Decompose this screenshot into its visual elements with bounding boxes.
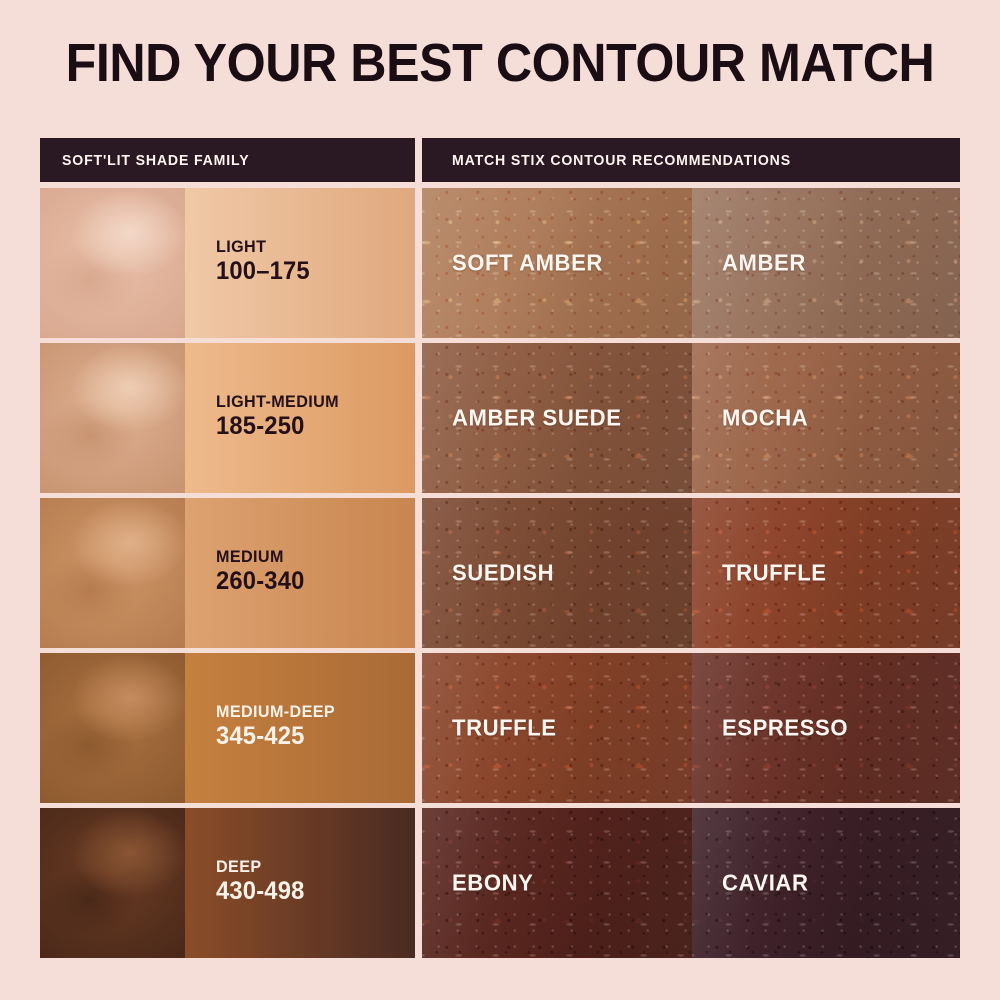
header-label-recommendations: MATCH STIX CONTOUR RECOMMENDATIONS bbox=[452, 152, 791, 169]
model-photo-image bbox=[40, 653, 185, 803]
product-swatch[interactable]: MOCHA bbox=[692, 343, 960, 493]
model-photo bbox=[40, 808, 185, 958]
shade-family-cell: MEDIUM 260-340 bbox=[40, 498, 415, 648]
shade-family-name: MEDIUM bbox=[216, 548, 304, 566]
product-swatch[interactable]: EBONY bbox=[422, 808, 692, 958]
contour-match-chart: FIND YOUR BEST CONTOUR MATCH SOFT'LIT SH… bbox=[0, 0, 1000, 1000]
shade-family-range: 345-425 bbox=[216, 723, 335, 750]
table-row: DEEP 430-498 EBONY CAVIAR bbox=[40, 808, 960, 958]
model-photo bbox=[40, 498, 185, 648]
table-row: LIGHT 100–175 SOFT AMBER AMBER bbox=[40, 188, 960, 338]
shade-family-cell: LIGHT-MEDIUM 185-250 bbox=[40, 343, 415, 493]
product-swatch-label: AMBER bbox=[722, 250, 806, 277]
model-photo bbox=[40, 188, 185, 338]
shade-family-range: 430-498 bbox=[216, 878, 304, 905]
product-swatch[interactable]: TRUFFLE bbox=[422, 653, 692, 803]
shade-family-swatch: LIGHT 100–175 bbox=[185, 188, 415, 338]
shade-family-name: MEDIUM-DEEP bbox=[216, 703, 335, 721]
product-swatch-label: SOFT AMBER bbox=[452, 250, 603, 277]
shade-family-range: 260-340 bbox=[216, 568, 304, 595]
shade-family-cell: LIGHT 100–175 bbox=[40, 188, 415, 338]
shade-match-table: SOFT'LIT SHADE FAMILY MATCH STIX CONTOUR… bbox=[40, 138, 960, 950]
model-photo bbox=[40, 653, 185, 803]
product-swatch-label: TRUFFLE bbox=[452, 715, 557, 742]
shade-family-name: DEEP bbox=[216, 858, 304, 876]
model-photo-image bbox=[40, 498, 185, 648]
product-swatch[interactable]: ESPRESSO bbox=[692, 653, 960, 803]
shade-family-label: DEEP 430-498 bbox=[216, 858, 309, 905]
product-swatch[interactable]: SOFT AMBER bbox=[422, 188, 692, 338]
recommendations-cell: AMBER SUEDE MOCHA bbox=[422, 343, 960, 493]
shade-family-swatch: MEDIUM 260-340 bbox=[185, 498, 415, 648]
product-swatch[interactable]: SUEDISH bbox=[422, 498, 692, 648]
shade-family-cell: MEDIUM-DEEP 345-425 bbox=[40, 653, 415, 803]
header-cell-recommendations: MATCH STIX CONTOUR RECOMMENDATIONS bbox=[422, 138, 960, 182]
table-header-row: SOFT'LIT SHADE FAMILY MATCH STIX CONTOUR… bbox=[40, 138, 960, 182]
product-swatch-label: EBONY bbox=[452, 870, 533, 897]
shade-family-swatch: MEDIUM-DEEP 345-425 bbox=[185, 653, 415, 803]
product-swatch-label: CAVIAR bbox=[722, 870, 808, 897]
shade-family-range: 185-250 bbox=[216, 413, 339, 440]
header-label-shade-family: SOFT'LIT SHADE FAMILY bbox=[62, 152, 249, 169]
shade-family-cell: DEEP 430-498 bbox=[40, 808, 415, 958]
recommendations-cell: TRUFFLE ESPRESSO bbox=[422, 653, 960, 803]
shade-family-range: 100–175 bbox=[216, 258, 310, 285]
recommendations-cell: SUEDISH TRUFFLE bbox=[422, 498, 960, 648]
table-row: MEDIUM 260-340 SUEDISH TRUFFLE bbox=[40, 498, 960, 648]
model-photo-image bbox=[40, 188, 185, 338]
model-photo-image bbox=[40, 343, 185, 493]
recommendations-cell: SOFT AMBER AMBER bbox=[422, 188, 960, 338]
shade-family-label: LIGHT-MEDIUM 185-250 bbox=[216, 393, 345, 440]
shade-family-name: LIGHT-MEDIUM bbox=[216, 393, 339, 411]
recommendations-cell: EBONY CAVIAR bbox=[422, 808, 960, 958]
table-row: LIGHT-MEDIUM 185-250 AMBER SUEDE MOCHA bbox=[40, 343, 960, 493]
product-swatch-label: AMBER SUEDE bbox=[452, 405, 622, 432]
shade-family-swatch: DEEP 430-498 bbox=[185, 808, 415, 958]
shade-family-swatch: LIGHT-MEDIUM 185-250 bbox=[185, 343, 415, 493]
product-swatch[interactable]: TRUFFLE bbox=[692, 498, 960, 648]
product-swatch[interactable]: AMBER bbox=[692, 188, 960, 338]
product-swatch-label: ESPRESSO bbox=[722, 715, 848, 742]
shade-family-label: LIGHT 100–175 bbox=[216, 238, 315, 285]
product-swatch-label: TRUFFLE bbox=[722, 560, 827, 587]
header-cell-shade-family: SOFT'LIT SHADE FAMILY bbox=[40, 138, 415, 182]
model-photo-image bbox=[40, 808, 185, 958]
product-swatch[interactable]: AMBER SUEDE bbox=[422, 343, 692, 493]
model-photo bbox=[40, 343, 185, 493]
page-title: FIND YOUR BEST CONTOUR MATCH bbox=[35, 36, 965, 90]
table-row: MEDIUM-DEEP 345-425 TRUFFLE ESPRESSO bbox=[40, 653, 960, 803]
shade-family-label: MEDIUM-DEEP 345-425 bbox=[216, 703, 341, 750]
product-swatch-label: MOCHA bbox=[722, 405, 808, 432]
product-swatch-label: SUEDISH bbox=[452, 560, 554, 587]
product-swatch[interactable]: CAVIAR bbox=[692, 808, 960, 958]
shade-family-label: MEDIUM 260-340 bbox=[216, 548, 309, 595]
shade-family-name: LIGHT bbox=[216, 238, 310, 256]
